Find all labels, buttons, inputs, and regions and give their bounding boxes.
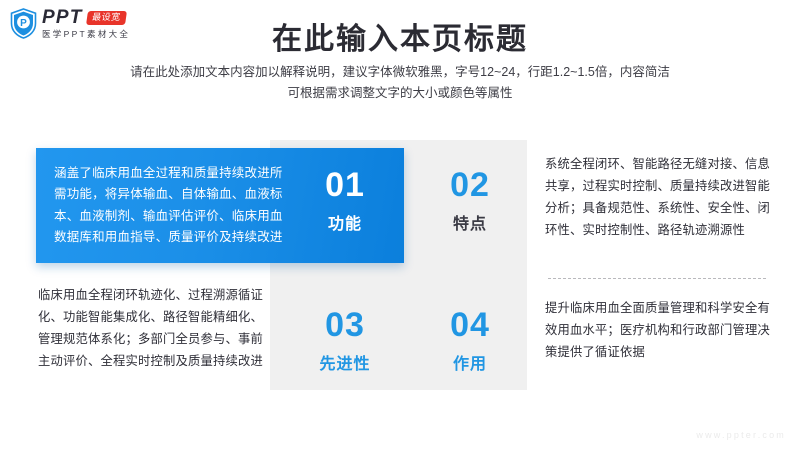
content-area: 涵盖了临床用血全过程和质量持续改进所需功能，将异体输血、自体输血、血液标本、血液… (0, 140, 800, 400)
item-04-number: 04 (415, 308, 525, 344)
item-03-caption: 先进性 (290, 350, 400, 374)
subtitle-line-2: 可根据需求调整文字的大小或颜色等属性 (0, 83, 800, 104)
page-title: 在此输入本页标题 (0, 14, 800, 58)
item-04-label[interactable]: 04 作用 (415, 308, 525, 374)
item-02-caption: 特点 (415, 210, 525, 234)
item-01-caption: 功能 (290, 210, 400, 234)
item-01-label[interactable]: 01 功能 (290, 168, 400, 234)
item-02-number: 02 (415, 168, 525, 204)
right-column-divider (548, 278, 766, 279)
feature-card-01-body: 涵盖了临床用血全过程和质量持续改进所需功能，将异体输血、自体输血、血液标本、血液… (54, 163, 286, 249)
item-04-caption: 作用 (415, 350, 525, 374)
item-03-body: 临床用血全程闭环轨迹化、过程溯源循证化、功能智能集成化、路径智能精细化、管理规范… (38, 285, 263, 373)
item-02-body: 系统全程闭环、智能路径无缝对接、信息共享，过程实时控制、质量持续改进智能分析；具… (545, 154, 777, 242)
item-03-number: 03 (290, 308, 400, 344)
item-01-number: 01 (290, 168, 400, 204)
item-02-label[interactable]: 02 特点 (415, 168, 525, 234)
page-subtitle: 请在此处添加文本内容加以解释说明，建议字体微软雅黑，字号12~24，行距1.2~… (0, 62, 800, 103)
footer-watermark: www.ppter.com (696, 430, 786, 440)
subtitle-line-1: 请在此处添加文本内容加以解释说明，建议字体微软雅黑，字号12~24，行距1.2~… (0, 62, 800, 83)
item-04-body: 提升临床用血全面质量管理和科学安全有效用血水平；医疗机构和行政部门管理决策提供了… (545, 298, 777, 364)
item-03-label[interactable]: 03 先进性 (290, 308, 400, 374)
